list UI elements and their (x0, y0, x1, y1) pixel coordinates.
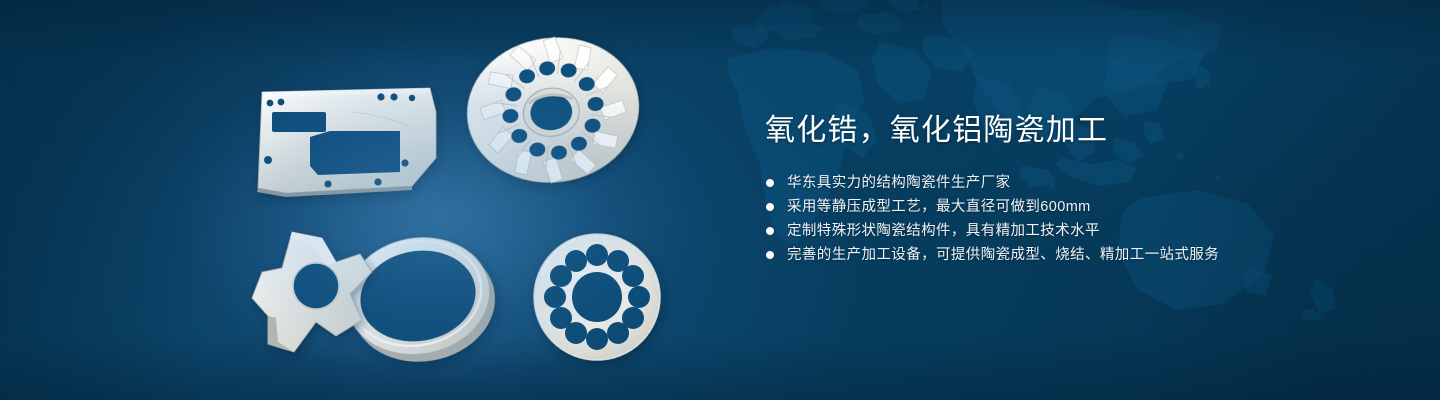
product-photo-group (0, 0, 760, 400)
bullet-dot-icon (766, 227, 774, 235)
bullet-dot-icon (766, 251, 774, 259)
banner-copy: 氧化锆，氧化铝陶瓷加工 华东具实力的结构陶瓷件生产厂家 采用等静压成型工艺，最大… (765, 112, 1385, 267)
list-item-label: 采用等静压成型工艺，最大直径可做到600mm (787, 195, 1091, 219)
ceramic-impeller-part (458, 27, 648, 194)
list-item: 华东具实力的结构陶瓷件生产厂家 (766, 171, 1385, 195)
page-title: 氧化锆，氧化铝陶瓷加工 (765, 112, 1385, 150)
ceramic-ring-part (337, 226, 504, 374)
feature-list: 华东具实力的结构陶瓷件生产厂家 采用等静压成型工艺，最大直径可做到600mm 定… (765, 171, 1385, 267)
list-item-label: 定制特殊形状陶瓷结构件，具有精加工技术水平 (787, 219, 1100, 243)
list-item: 采用等静压成型工艺，最大直径可做到600mm (766, 195, 1385, 219)
ceramic-plate-part (257, 88, 436, 197)
bullet-dot-icon (766, 203, 774, 211)
list-item: 定制特殊形状陶瓷结构件，具有精加工技术水平 (766, 219, 1385, 243)
list-item: 完善的生产加工设备，可提供陶瓷成型、烧结、精加工一站式服务 (766, 243, 1385, 267)
list-item-label: 华东具实力的结构陶瓷件生产厂家 (787, 171, 1011, 195)
list-item-label: 完善的生产加工设备，可提供陶瓷成型、烧结、精加工一站式服务 (787, 243, 1219, 267)
bullet-dot-icon (766, 179, 774, 187)
ceramic-perforated-disc-part (534, 234, 660, 360)
promo-banner: 氧化锆，氧化铝陶瓷加工 华东具实力的结构陶瓷件生产厂家 采用等静压成型工艺，最大… (0, 0, 1440, 400)
